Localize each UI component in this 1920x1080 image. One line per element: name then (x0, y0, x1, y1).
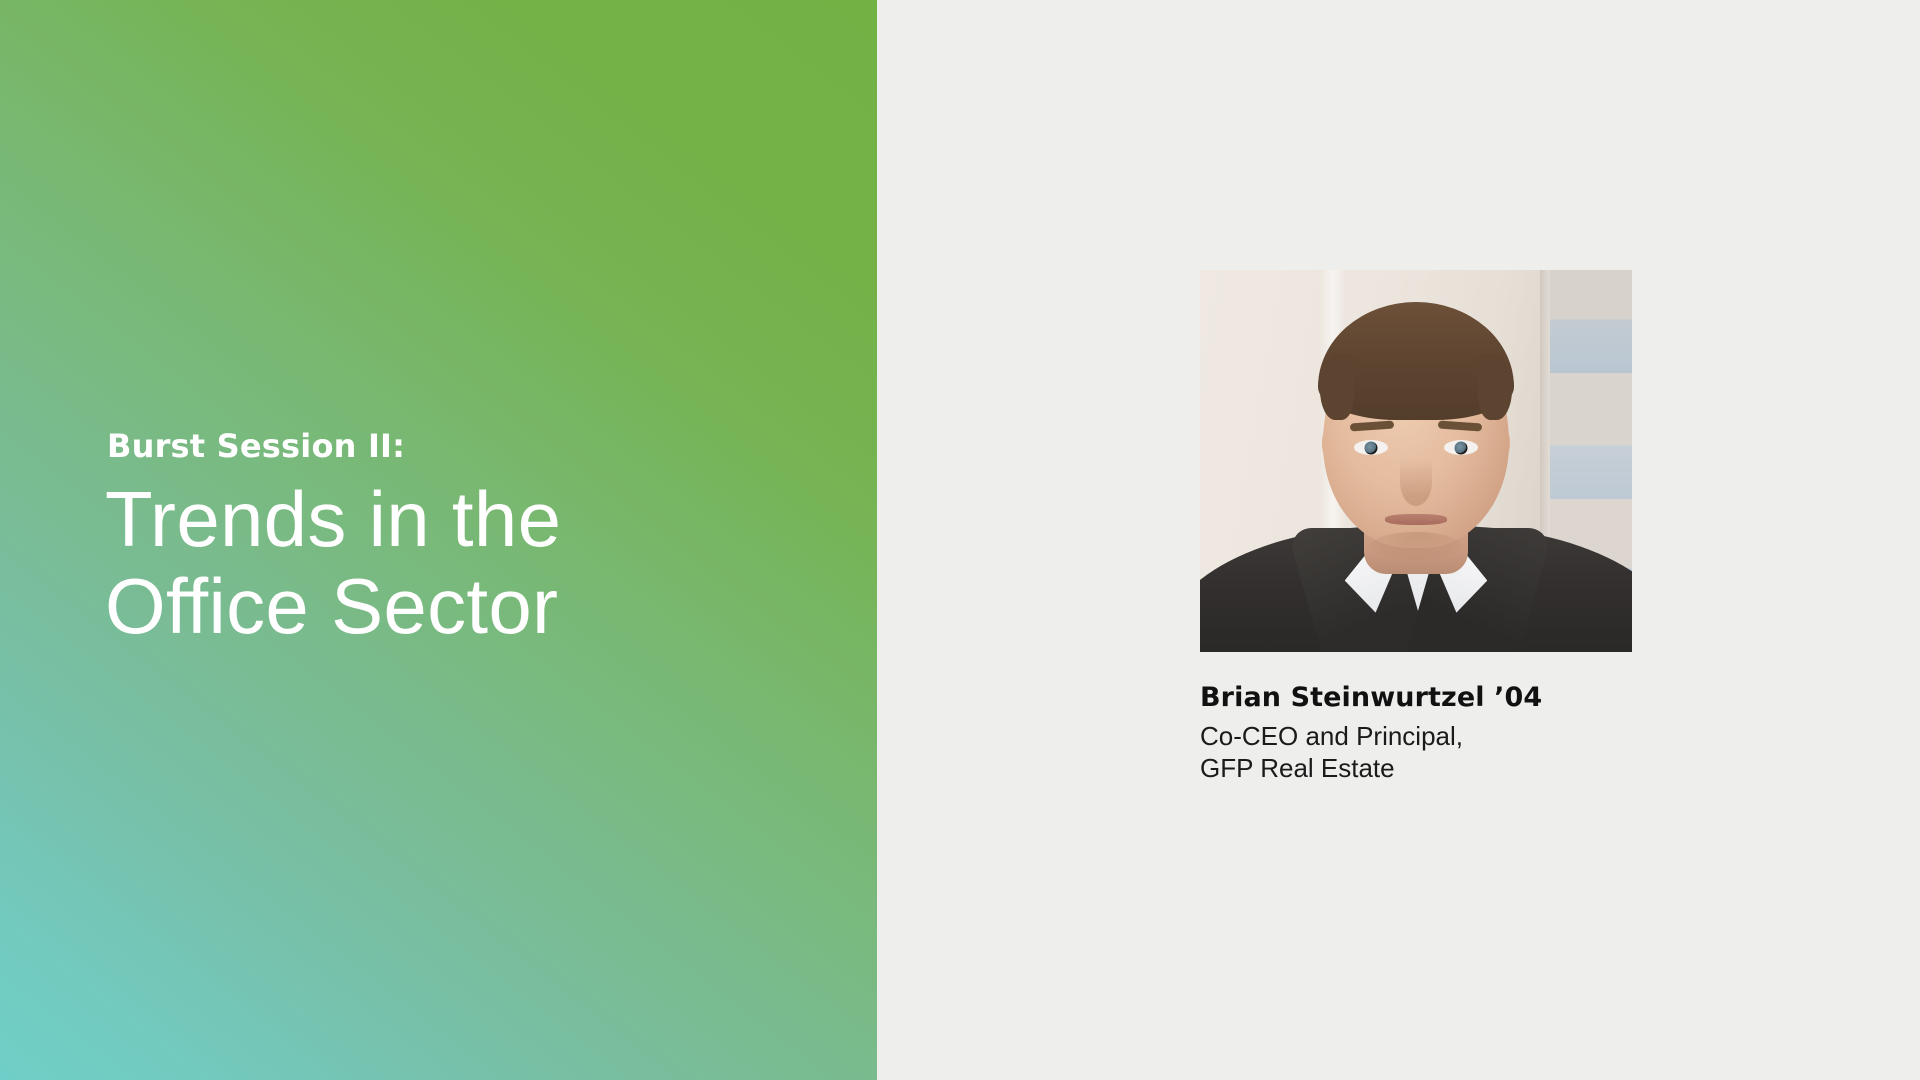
speaker-panel: Brian Steinwurtzel ’04 Co-CEO and Princi… (877, 0, 1920, 1080)
title-text-block: Burst Session II: Trends in the Office S… (105, 0, 805, 1080)
photo-eye-right (1444, 440, 1478, 455)
page-title-line-1: Trends in the (105, 476, 805, 563)
session-eyebrow-label: Burst Session II: (107, 430, 805, 462)
photo-nose (1400, 458, 1432, 506)
speaker-role: Co-CEO and Principal, GFP Real Estate (1200, 721, 1640, 784)
speaker-card: Brian Steinwurtzel ’04 Co-CEO and Princi… (1200, 270, 1640, 785)
photo-mouth (1385, 514, 1447, 525)
photo-eye-left (1354, 440, 1388, 455)
presentation-slide: Burst Session II: Trends in the Office S… (0, 0, 1920, 1080)
speaker-role-line-1: Co-CEO and Principal, (1200, 721, 1640, 753)
page-title: Trends in the Office Sector (105, 476, 805, 651)
photo-chin-shadow (1370, 532, 1462, 560)
speaker-role-line-2: GFP Real Estate (1200, 753, 1640, 785)
page-title-line-2: Office Sector (105, 563, 805, 650)
speaker-name: Brian Steinwurtzel ’04 (1200, 683, 1640, 713)
title-panel: Burst Session II: Trends in the Office S… (0, 0, 877, 1080)
speaker-photo (1200, 270, 1632, 652)
